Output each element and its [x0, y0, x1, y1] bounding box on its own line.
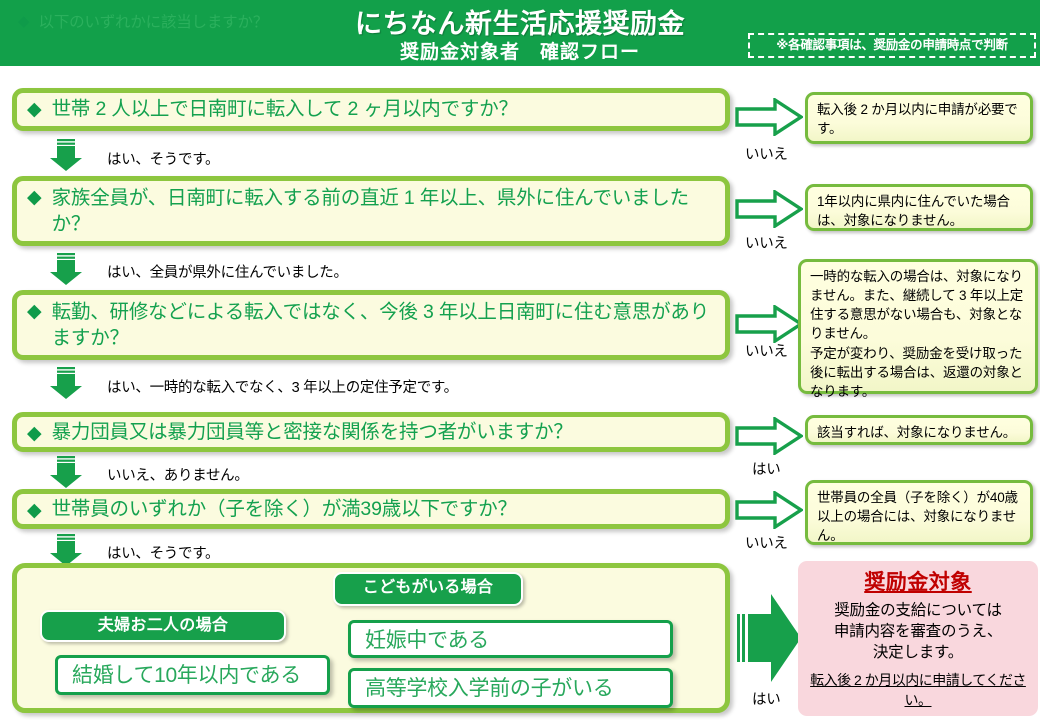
no-label-5: いいえ [745, 532, 788, 553]
yes-label-1: はい、そうです。 [107, 148, 219, 169]
yes-label-5: はい、そうです。 [107, 542, 219, 563]
question-box-3: ◆ 転勤、研修などによる転入ではなく、今後 3 年以上日南町に住む意思があります… [12, 290, 730, 360]
flowchart-page: にちなん新生活応援奨励金 奨励金対象者 確認フロー ※各確認事項は、奨励金の申請… [0, 0, 1040, 720]
note-box-3: 一時的な転入の場合は、対象になりません。また、継続して 3 年以上定住する意思が… [798, 259, 1038, 394]
question-text-4: 暴力団員又は暴力団員等と密接な関係を持つ者がいますか？ [52, 419, 573, 445]
yes-label-2: はい、全員が県外に住んでいました。 [107, 261, 348, 282]
conditions-question: ◆ 以下のいずれかに該当しますか？ [18, 10, 268, 32]
yes-label-3: はい、一時的な転入でなく、3 年以上の定住予定です。 [107, 376, 458, 397]
tag-couple-case: 夫婦お二人の場合 [40, 610, 286, 642]
no-label-1: いいえ [745, 143, 788, 164]
result-body: 奨励金の支給については 申請内容を審査のうえ、 決定します。 [798, 601, 1038, 664]
tag-child-case: こどもがいる場合 [333, 572, 523, 606]
diamond-bullet-icon: ◆ [27, 424, 42, 443]
condition-pregnant: 妊娠中である [348, 620, 673, 658]
condition-preschool-child: 高等学校入学前の子がいる [348, 668, 673, 708]
right-arrow-icon-3 [735, 305, 803, 343]
diamond-bullet-icon: ◆ [27, 501, 42, 520]
diamond-bullet-icon: ◆ [27, 302, 42, 321]
right-arrow-icon-2 [735, 190, 803, 228]
no-label-4: はい [752, 458, 780, 479]
question-box-5: ◆ 世帯員のいずれか（子を除く）が満39歳以下ですか？ [12, 489, 730, 529]
conditions-question-text: 以下のいずれかに該当しますか？ [39, 10, 269, 32]
no-label-3: いいえ [745, 340, 788, 361]
question-box-4: ◆ 暴力団員又は暴力団員等と密接な関係を持つ者がいますか？ [12, 412, 730, 452]
result-panel: 奨励金対象 奨励金の支給については 申請内容を審査のうえ、 決定します。 転入後… [798, 561, 1038, 716]
down-arrow-icon-4 [49, 455, 83, 489]
diamond-bullet-icon: ◆ [27, 188, 42, 207]
result-body-line-1: 奨励金の支給については [798, 601, 1038, 622]
condition-married-within-10-years: 結婚して10年以内である [55, 655, 330, 695]
result-body-line-2: 申請内容を審査のうえ、 [798, 622, 1038, 643]
question-text-3: 転勤、研修などによる転入ではなく、今後 3 年以上日南町に住む意思がありますか？ [52, 299, 719, 351]
question-text-1: 世帯 2 人以上で日南町に転入して 2 ヶ月以内ですか？ [52, 96, 518, 122]
question-box-1: ◆ 世帯 2 人以上で日南町に転入して 2 ヶ月以内ですか？ [12, 88, 730, 131]
note-box-4: 該当すれば、対象になりません。 [805, 415, 1033, 445]
question-box-2: ◆ 家族全員が、日南町に転入する前の直近 1 年以上、県外に住んでいましたか？ [12, 176, 730, 246]
down-arrow-icon-5 [49, 533, 83, 567]
result-footer: 転入後 2 か月以内に申請してください。 [798, 670, 1038, 710]
note-box-5: 世帯員の全員（子を除く）が40歳以上の場合には、対象になりません。 [805, 480, 1033, 545]
right-arrow-icon-5 [735, 491, 803, 529]
question-text-2: 家族全員が、日南町に転入する前の直近 1 年以上、県外に住んでいましたか？ [52, 185, 719, 237]
down-arrow-icon-1 [49, 138, 83, 172]
result-body-line-3: 決定します。 [798, 643, 1038, 664]
right-arrow-icon-4 [735, 417, 803, 455]
no-label-2: いいえ [745, 232, 788, 253]
header-note-badge: ※各確認事項は、奨励金の申請時点で判断 [748, 33, 1036, 58]
down-arrow-icon-3 [49, 366, 83, 400]
big-right-arrow-icon [737, 592, 803, 684]
right-arrow-icon-1 [735, 98, 803, 136]
note-box-2: 1年以内に県内に住んでいた場合は、対象になりません。 [805, 184, 1033, 231]
question-text-5: 世帯員のいずれか（子を除く）が満39歳以下ですか？ [52, 496, 517, 522]
diamond-bullet-icon: ◆ [18, 12, 30, 30]
down-arrow-icon-2 [49, 252, 83, 286]
result-title: 奨励金対象 [798, 566, 1038, 596]
yes-label-4: いいえ、ありません。 [107, 464, 249, 485]
note-box-1: 転入後 2 か月以内に申請が必要です。 [805, 92, 1033, 144]
final-yes-label: はい [752, 688, 780, 709]
diamond-bullet-icon: ◆ [27, 100, 42, 119]
